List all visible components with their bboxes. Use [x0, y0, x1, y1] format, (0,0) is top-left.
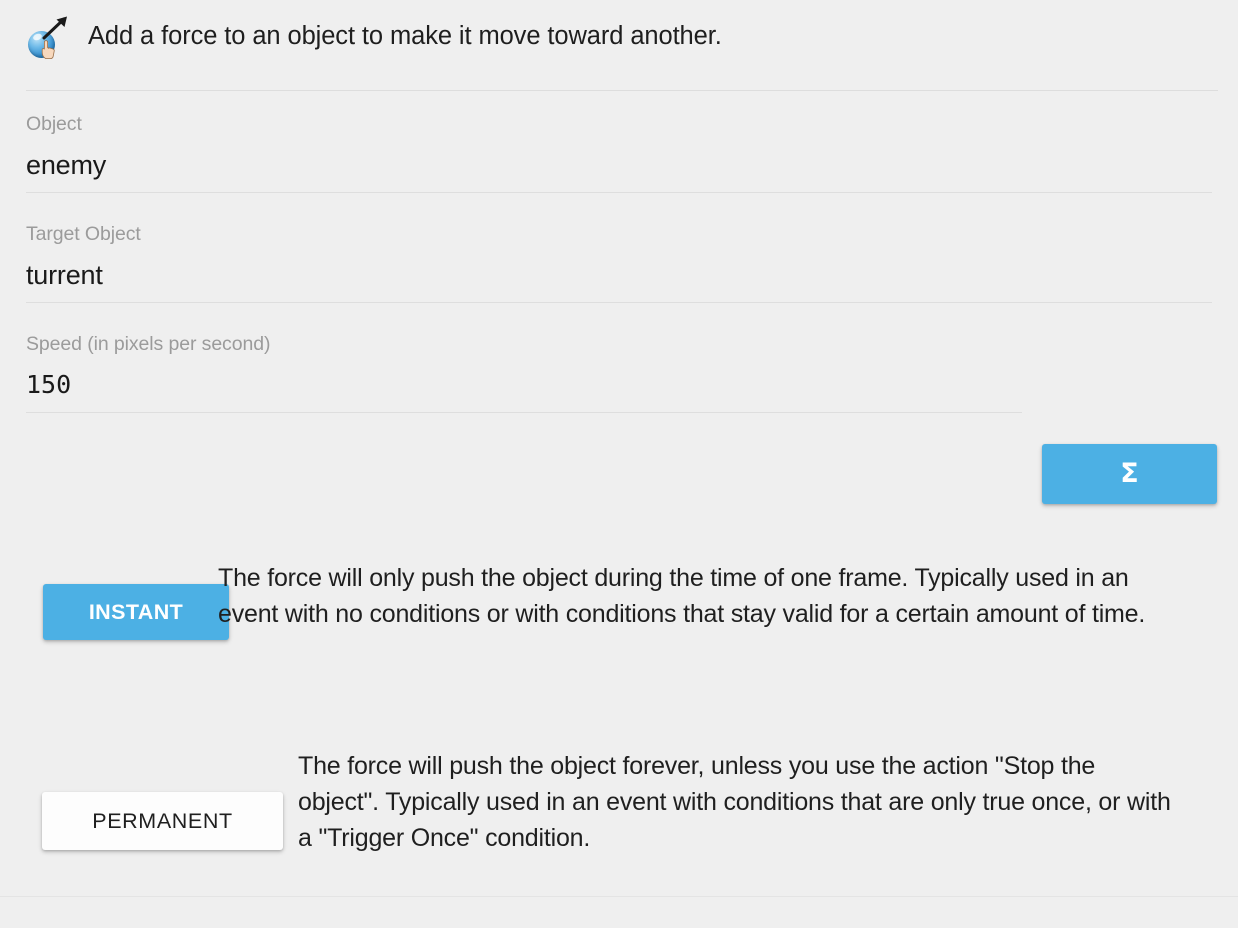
option-row-permanent: PERMANENT The force will push the object…	[0, 748, 1238, 856]
expression-editor-button[interactable]: Σ	[1042, 444, 1217, 504]
add-force-icon	[28, 15, 72, 59]
instant-description: The force will only push the object duri…	[218, 560, 1163, 632]
instant-button-wrap: INSTANT	[0, 560, 218, 640]
form-fields: Object enemy Target Object turrent Speed…	[0, 112, 1238, 442]
field-speed-label: Speed (in pixels per second)	[26, 332, 1212, 358]
instant-button[interactable]: INSTANT	[43, 584, 229, 640]
target-object-input[interactable]: turrent	[26, 248, 1212, 302]
speed-input-underline	[26, 412, 1022, 413]
permanent-description: The force will push the object forever, …	[298, 748, 1178, 856]
object-input[interactable]: enemy	[26, 138, 1212, 192]
permanent-button[interactable]: PERMANENT	[42, 792, 283, 850]
field-object: Object enemy	[0, 112, 1238, 193]
header-divider	[26, 90, 1218, 91]
page-title: Add a force to an object to make it move…	[88, 21, 722, 51]
field-target-object: Target Object turrent	[0, 222, 1238, 303]
hand-cursor-icon	[41, 40, 55, 59]
permanent-button-wrap: PERMANENT	[0, 748, 298, 850]
target-object-input-underline	[26, 302, 1212, 303]
dialog-header: Add a force to an object to make it move…	[0, 0, 1238, 54]
arrow-up-right-icon	[42, 15, 70, 41]
field-object-label: Object	[26, 112, 1212, 138]
field-target-object-label: Target Object	[26, 222, 1212, 248]
bottom-divider	[0, 896, 1238, 897]
field-speed: Speed (in pixels per second) 150	[0, 332, 1238, 413]
speed-input[interactable]: 150	[26, 358, 1212, 412]
object-input-underline	[26, 192, 1212, 193]
option-row-instant: INSTANT The force will only push the obj…	[0, 560, 1238, 640]
